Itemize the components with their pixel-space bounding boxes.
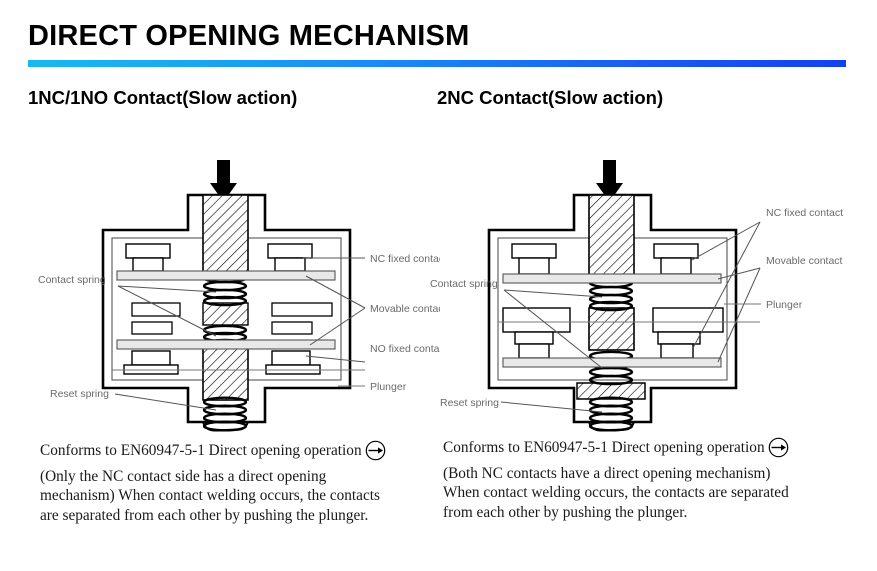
- caption-line-2: (Only the NC contact side has a direct o…: [40, 468, 326, 485]
- label-movable-contact: Movable contact: [766, 255, 843, 267]
- caption-line-3: When contact welding occurs, the contact…: [443, 484, 789, 501]
- accent-bar: [28, 60, 846, 67]
- caption-line-4: are separated from each other by pushing…: [40, 507, 368, 524]
- label-contact-spring: Contact spring: [430, 278, 498, 290]
- movable-contact-upper: [117, 271, 335, 280]
- caption-line-4: from each other by pushing the plunger.: [443, 504, 687, 521]
- nc-fixed-contact-left: [126, 244, 170, 271]
- diagram-1nc-1no-contact: Contact spring Reset spring NC fixed con…: [20, 140, 440, 435]
- plunger-block-middle: [589, 308, 634, 350]
- plunger-shaft-upper: [203, 195, 248, 272]
- movable-contact-lower: [503, 358, 721, 367]
- plunger-collar-middle: [203, 303, 248, 325]
- caption-1nc-1no: Conforms to EN60947-5-1 Direct opening o…: [40, 440, 420, 525]
- plunger-shaft-upper: [589, 195, 634, 277]
- fixed-pad-mid-right: [272, 303, 332, 316]
- no-fixed-contact-right-upper: [272, 322, 312, 334]
- diagram-2nc-contact: Contact spring Reset spring NC fixed con…: [430, 140, 870, 435]
- label-nc-fixed-contact: NC fixed contact: [766, 207, 843, 219]
- label-reset-spring: Reset spring: [440, 397, 499, 409]
- diagram-1nc-1no-svg: Contact spring Reset spring NC fixed con…: [20, 140, 440, 435]
- no-fixed-contact-right: [266, 351, 320, 374]
- nc-fixed-contact-top-left: [512, 244, 556, 274]
- movable-contact-upper: [503, 274, 721, 283]
- direct-opening-arrow-in-circle-icon: [768, 437, 789, 464]
- fixed-pad-mid-left: [503, 308, 570, 332]
- contact-spring-upper: [590, 279, 632, 310]
- label-plunger: Plunger: [766, 299, 803, 311]
- caption-line-3: mechanism) When contact welding occurs, …: [40, 487, 380, 504]
- movable-contact-lower: [117, 340, 335, 349]
- label-plunger: Plunger: [370, 381, 407, 393]
- caption-line-1: Conforms to EN60947-5-1 Direct opening o…: [443, 439, 765, 456]
- no-fixed-contact-left: [124, 351, 178, 374]
- contact-spring-lower: [590, 352, 632, 384]
- diagram-2nc-svg: Contact spring Reset spring NC fixed con…: [430, 140, 870, 435]
- nc-fixed-contact-bottom-right: [658, 332, 700, 358]
- caption-line-2: (Both NC contacts have a direct opening …: [443, 465, 771, 482]
- subtitle-2nc: 2NC Contact(Slow action): [437, 87, 663, 109]
- plunger-shaft-lower: [203, 345, 248, 400]
- caption-line-1: Conforms to EN60947-5-1 Direct opening o…: [40, 442, 362, 459]
- label-contact-spring: Contact spring: [38, 274, 106, 286]
- caption-2nc: Conforms to EN60947-5-1 Direct opening o…: [443, 437, 843, 522]
- no-fixed-contact-left-upper: [132, 322, 172, 334]
- reset-spring: [590, 398, 632, 431]
- nc-fixed-contact-bottom-left: [515, 332, 553, 358]
- direct-opening-arrow-in-circle-icon: [365, 440, 386, 467]
- reset-spring: [204, 398, 246, 431]
- subtitle-1nc-1no: 1NC/1NO Contact(Slow action): [28, 87, 297, 109]
- page-title: DIRECT OPENING MECHANISM: [28, 20, 469, 53]
- nc-fixed-contact-top-right: [654, 244, 698, 274]
- label-reset-spring: Reset spring: [50, 388, 109, 400]
